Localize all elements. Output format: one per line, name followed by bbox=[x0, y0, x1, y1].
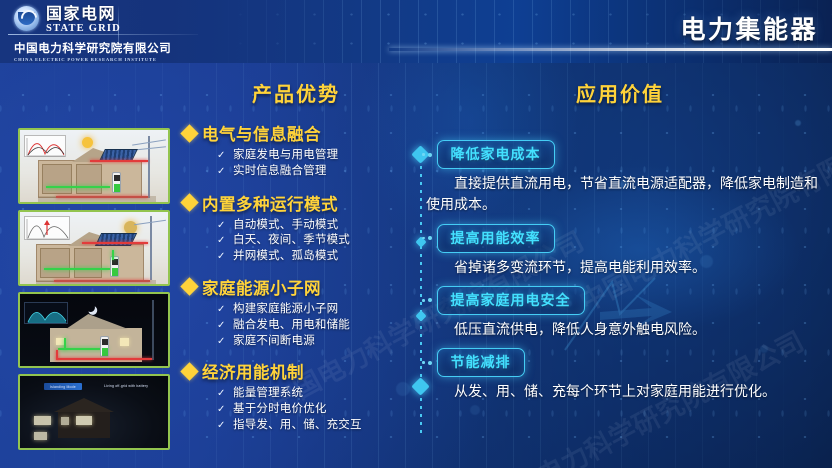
thumbnail-image-2[interactable] bbox=[18, 210, 170, 286]
title-underline bbox=[389, 48, 832, 51]
ground-shadow bbox=[38, 196, 156, 202]
red-power-flow bbox=[90, 160, 148, 162]
list-item: ✓ 自动模式、手动模式 bbox=[217, 217, 409, 233]
thumbnail-image-4[interactable]: Islanding Mode Living off-grid with batt… bbox=[18, 374, 170, 450]
value-badge-row: 提高用能效率 bbox=[422, 224, 826, 253]
advantage-point: 自动模式、手动模式 bbox=[233, 217, 338, 232]
advantage-block-2: 内置多种运行模式 ✓ 自动模式、手动模式 ✓ 白天、夜间、季节模式 ✓ 并网模式… bbox=[183, 191, 409, 264]
thumbnail-image-1[interactable] bbox=[18, 128, 170, 204]
advantage-title: 内置多种运行模式 bbox=[202, 191, 338, 215]
advantage-point: 能量管理系统 bbox=[233, 385, 303, 400]
slide-header: 国家电网 STATE GRID 中国电力科学研究院有限公司 CHINA ELEC… bbox=[0, 0, 832, 63]
check-icon: ✓ bbox=[217, 220, 226, 233]
advantage-points: ✓ 自动模式、手动模式 ✓ 白天、夜间、季节模式 ✓ 并网模式、孤岛模式 bbox=[217, 217, 409, 264]
list-item: ✓ 指导发、用、储、充交互 bbox=[217, 417, 409, 433]
list-item: ✓ 实时信息融合管理 bbox=[217, 163, 409, 179]
connector-dots-icon bbox=[422, 298, 432, 302]
advantage-point: 实时信息融合管理 bbox=[233, 163, 327, 178]
energy-collector-device bbox=[100, 336, 109, 357]
green-power-flow bbox=[64, 338, 66, 350]
red-power-flow bbox=[82, 242, 148, 244]
value-badge[interactable]: 提高用能效率 bbox=[437, 224, 555, 253]
advantage-title: 电气与信息融合 bbox=[202, 121, 321, 145]
advantage-header: 经济用能机制 bbox=[183, 359, 409, 383]
advantage-points: ✓ 家庭发电与用电管理 ✓ 实时信息融合管理 bbox=[217, 147, 409, 179]
state-grid-emblem-icon bbox=[14, 6, 39, 31]
brand-name-cn: 国家电网 bbox=[46, 6, 121, 22]
ground-shadow bbox=[36, 280, 156, 286]
advantage-points: ✓ 能量管理系统 ✓ 基于分时电价优化 ✓ 指导发、用、储、充交互 bbox=[217, 385, 409, 432]
institute-block: 中国电力科学研究院有限公司 CHINA ELECTRIC POWER RESEA… bbox=[14, 40, 171, 62]
list-item: ✓ 白天、夜间、季节模式 bbox=[217, 232, 409, 248]
slide-title: 电力集能器 bbox=[680, 10, 818, 46]
value-badge[interactable]: 降低家电成本 bbox=[437, 140, 555, 169]
house-room bbox=[76, 164, 102, 194]
value-item-2: 提高用能效率 省掉诸多变流环节，提高电能利用效率。 bbox=[420, 224, 826, 279]
value-badge-row: 降低家电成本 bbox=[422, 140, 826, 169]
house-room bbox=[42, 164, 72, 194]
inline-chart bbox=[24, 216, 70, 240]
list-item: ✓ 能量管理系统 bbox=[217, 385, 409, 401]
red-power-flow bbox=[56, 358, 152, 360]
value-text: 直接提供直流用电，节省直流电源适配器，降低家电制造和使用成本。 bbox=[426, 174, 826, 217]
check-icon: ✓ bbox=[217, 404, 226, 417]
connector-dots-icon bbox=[422, 153, 432, 157]
advantage-point: 家庭发电与用电管理 bbox=[233, 147, 338, 162]
advantage-block-4: 经济用能机制 ✓ 能量管理系统 ✓ 基于分时电价优化 ✓ 指导发、用、储、充交互 bbox=[183, 359, 409, 432]
advantage-point: 基于分时电价优化 bbox=[233, 401, 327, 416]
lit-window bbox=[61, 417, 69, 425]
advantage-header: 电气与信息融合 bbox=[183, 121, 409, 145]
check-icon: ✓ bbox=[217, 320, 226, 333]
application-value-column: 应用价值 bbox=[414, 78, 826, 107]
utility-pole bbox=[150, 216, 152, 280]
connector-dots-icon bbox=[422, 361, 432, 365]
house-room bbox=[40, 248, 70, 278]
thumbnail-label-islanding: Islanding Mode bbox=[44, 383, 82, 390]
diamond-bullet-icon bbox=[180, 278, 198, 296]
advantage-points: ✓ 构建家庭能源小子网 ✓ 融合发电、用电和储能 ✓ 家庭不间断电源 bbox=[217, 301, 409, 348]
value-badge[interactable]: 节能减排 bbox=[437, 348, 525, 377]
energy-collector-device bbox=[112, 172, 121, 193]
diamond-bullet-icon bbox=[180, 193, 198, 211]
check-icon: ✓ bbox=[217, 420, 226, 433]
advantage-point: 指导发、用、储、充交互 bbox=[233, 417, 362, 432]
value-badge-row: 节能减排 bbox=[422, 348, 826, 377]
red-power-flow bbox=[56, 350, 58, 360]
lit-window bbox=[34, 432, 47, 440]
value-item-1: 降低家电成本 直接提供直流用电，节省直流电源适配器，降低家电制造和使用成本。 bbox=[420, 140, 826, 217]
value-badge[interactable]: 提高家庭用电安全 bbox=[437, 286, 585, 315]
diamond-bullet-icon bbox=[180, 362, 198, 380]
diamond-bullet-icon bbox=[180, 124, 198, 142]
night-load-curve-chart bbox=[25, 303, 69, 325]
load-curve-chart bbox=[25, 217, 71, 241]
state-grid-logo: 国家电网 STATE GRID bbox=[14, 6, 121, 35]
advantage-point: 白天、夜间、季节模式 bbox=[233, 232, 350, 247]
value-items: 降低家电成本 直接提供直流用电，节省直流电源适配器，降低家电制造和使用成本。 提… bbox=[420, 126, 826, 410]
check-icon: ✓ bbox=[217, 150, 226, 163]
list-item: ✓ 构建家庭能源小子网 bbox=[217, 301, 409, 317]
institute-name-cn: 中国电力科学研究院有限公司 bbox=[14, 40, 171, 56]
product-advantages-heading: 产品优势 bbox=[183, 78, 409, 107]
list-item: ✓ 家庭发电与用电管理 bbox=[217, 147, 409, 163]
value-item-3: 提高家庭用电安全 低压直流供电，降低人身意外触电风险。 bbox=[420, 286, 826, 341]
brand-name: 国家电网 STATE GRID bbox=[46, 6, 121, 35]
green-power-flow bbox=[44, 268, 110, 270]
check-icon: ✓ bbox=[217, 336, 226, 349]
check-icon: ✓ bbox=[217, 251, 226, 264]
value-text: 省掉诸多变流环节，提高电能利用效率。 bbox=[426, 258, 826, 279]
value-text: 从发、用、储、充每个环节上对家庭用能进行优化。 bbox=[426, 382, 826, 403]
lit-window bbox=[34, 416, 51, 425]
sun-icon bbox=[82, 137, 93, 148]
application-value-heading: 应用价值 bbox=[414, 78, 826, 107]
green-power-flow bbox=[46, 186, 110, 188]
check-icon: ✓ bbox=[217, 235, 226, 248]
inline-chart bbox=[24, 135, 66, 157]
value-item-4: 节能减排 从发、用、储、充每个环节上对家庭用能进行优化。 bbox=[420, 348, 826, 403]
lit-window bbox=[56, 338, 64, 345]
advantage-block-1: 电气与信息融合 ✓ 家庭发电与用电管理 ✓ 实时信息融合管理 bbox=[183, 121, 409, 179]
list-item: ✓ 并网模式、孤岛模式 bbox=[217, 248, 409, 264]
advantage-title: 家庭能源小子网 bbox=[202, 275, 321, 299]
advantage-point: 家庭不间断电源 bbox=[233, 333, 315, 348]
value-text: 低压直流供电，降低人身意外触电风险。 bbox=[426, 320, 826, 341]
list-item: ✓ 基于分时电价优化 bbox=[217, 401, 409, 417]
value-badge-row: 提高家庭用电安全 bbox=[422, 286, 826, 315]
thumbnail-image-3[interactable] bbox=[18, 292, 170, 368]
advantage-header: 家庭能源小子网 bbox=[183, 275, 409, 299]
advantage-point: 构建家庭能源小子网 bbox=[233, 301, 338, 316]
list-item: ✓ 家庭不间断电源 bbox=[217, 333, 409, 349]
thumbnail-label-offgrid: Living off-grid with battery bbox=[104, 384, 148, 388]
product-advantages-column: 产品优势 电气与信息融合 ✓ 家庭发电与用电管理 ✓ 实时信息融合管理 内置 bbox=[183, 78, 409, 433]
check-icon: ✓ bbox=[217, 304, 226, 317]
utility-pole bbox=[152, 300, 154, 360]
brand-name-en: STATE GRID bbox=[46, 24, 121, 35]
utility-pole bbox=[148, 136, 150, 198]
connector-dots-icon bbox=[422, 236, 432, 240]
list-item: ✓ 融合发电、用电和储能 bbox=[217, 317, 409, 333]
load-curve-chart bbox=[25, 136, 67, 158]
lit-window bbox=[76, 416, 92, 425]
advantage-header: 内置多种运行模式 bbox=[183, 191, 409, 215]
institute-name-en: CHINA ELECTRIC POWER RESEARCH INSTITUTE bbox=[14, 57, 171, 62]
slide-root: 中国电力科学研究院有限公司 中国电力科学研究院有限公司 中国电力科学研究院有限公… bbox=[0, 0, 832, 468]
green-power-flow bbox=[112, 250, 114, 260]
check-icon: ✓ bbox=[217, 388, 226, 401]
house-room bbox=[74, 248, 102, 278]
advantage-title: 经济用能机制 bbox=[202, 359, 304, 383]
inline-chart bbox=[24, 302, 68, 324]
solar-panel bbox=[95, 233, 137, 246]
advantage-point: 融合发电、用电和储能 bbox=[233, 317, 350, 332]
thumbnail-column: Islanding Mode Living off-grid with batt… bbox=[18, 128, 170, 450]
advantage-point: 并网模式、孤岛模式 bbox=[233, 248, 338, 263]
lit-window bbox=[120, 338, 129, 346]
advantage-block-3: 家庭能源小子网 ✓ 构建家庭能源小子网 ✓ 融合发电、用电和储能 ✓ 家庭不间断… bbox=[183, 275, 409, 348]
check-icon: ✓ bbox=[217, 166, 226, 179]
